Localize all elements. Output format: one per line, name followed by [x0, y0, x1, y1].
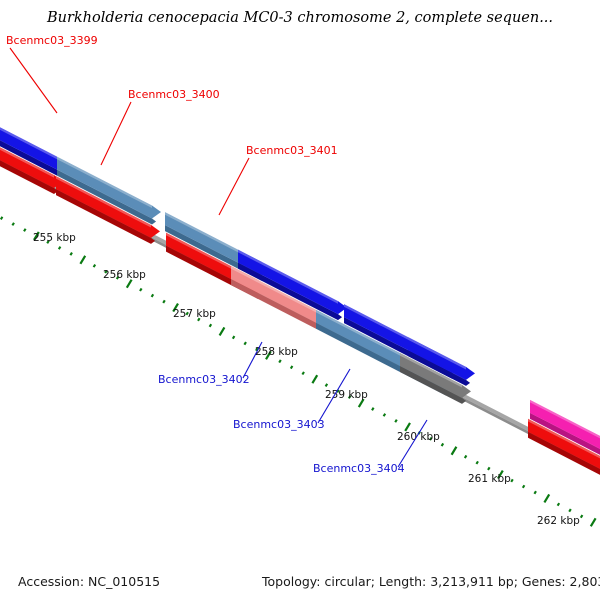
ruler-label: 257 kbp	[173, 308, 216, 320]
gene-label-3401[interactable]: Bcenmc03_3401	[246, 144, 338, 157]
accession-text: Accession: NC_010515	[18, 574, 160, 589]
ruler-tick-minor	[244, 342, 246, 345]
ruler-tick-minor	[12, 223, 14, 226]
gene-label-3399[interactable]: Bcenmc03_3399	[6, 34, 98, 47]
ruler-tick-minor	[395, 420, 397, 423]
ruler-label: 258 kbp	[255, 346, 298, 358]
ruler-tick-minor	[558, 503, 560, 506]
ruler-label: 262 kbp	[537, 515, 580, 527]
ruler-tick-minor	[210, 324, 212, 327]
ruler-tick-minor	[291, 366, 293, 369]
gene-label-3400-leader	[101, 102, 131, 165]
ruler-tick-major	[220, 327, 225, 335]
gene-label-3400[interactable]: Bcenmc03_3400	[128, 88, 220, 101]
ruler-tick-minor	[326, 384, 328, 387]
ruler-tick-minor	[24, 229, 26, 232]
gene-label-3401-leader	[219, 158, 249, 215]
ruler-tick-layer	[0, 208, 600, 535]
ruler-tick-minor	[1, 217, 3, 220]
ruler-label: 261 kbp	[468, 473, 511, 485]
ruler-tick-minor	[488, 467, 490, 470]
ruler-tick-minor	[279, 360, 281, 363]
ruler-tick-minor	[163, 300, 165, 303]
ruler-tick-minor	[94, 265, 96, 268]
sequence-summary-text: Topology: circular; Length: 3,213,911 bp…	[261, 574, 600, 589]
gene-label-3403[interactable]: Bcenmc03_3403	[233, 418, 325, 431]
page-title: Burkholderia cenocepacia MC0-3 chromosom…	[46, 10, 553, 26]
ruler-tick-major	[452, 447, 457, 455]
ruler-tick-minor	[465, 455, 467, 458]
genome-map-canvas[interactable]: Burkholderia cenocepacia MC0-3 chromosom…	[0, 0, 600, 600]
ruler-tick-minor	[384, 414, 386, 417]
ruler-tick-minor	[442, 443, 444, 446]
ruler-label: 256 kbp	[103, 269, 146, 281]
gene-label-3402[interactable]: Bcenmc03_3402	[158, 373, 250, 386]
gene-label-3399-leader	[10, 48, 57, 113]
ruler-tick-minor	[372, 408, 374, 411]
ruler-tick-minor	[152, 294, 154, 297]
ruler-tick-minor	[302, 372, 304, 375]
gene-label-3404-leader	[398, 420, 427, 467]
ruler-tick-minor	[140, 288, 142, 291]
ruler-tick-minor	[523, 485, 525, 488]
ruler-tick-minor	[569, 509, 571, 512]
ruler-label-layer: 255 kbp256 kbp257 kbp258 kbp259 kbp260 k…	[33, 232, 580, 527]
ruler-tick-minor	[59, 247, 61, 250]
ruler-tick-major	[544, 494, 549, 502]
ruler-tick-minor	[476, 461, 478, 464]
genome-map-viewer: Burkholderia cenocepacia MC0-3 chromosom…	[0, 0, 600, 600]
ruler-tick-minor	[511, 479, 513, 482]
ruler-tick-minor	[70, 253, 72, 256]
ruler-tick-minor	[581, 515, 583, 518]
gene-label-3404[interactable]: Bcenmc03_3404	[313, 462, 405, 475]
ruler-label: 255 kbp	[33, 232, 76, 244]
ruler-tick-minor	[534, 491, 536, 494]
ruler-tick-major	[591, 518, 596, 526]
ruler-tick-major	[405, 423, 410, 431]
ruler-tick-major	[312, 375, 317, 383]
ruler-tick-minor	[233, 336, 235, 339]
ruler-tick-major	[80, 256, 85, 264]
